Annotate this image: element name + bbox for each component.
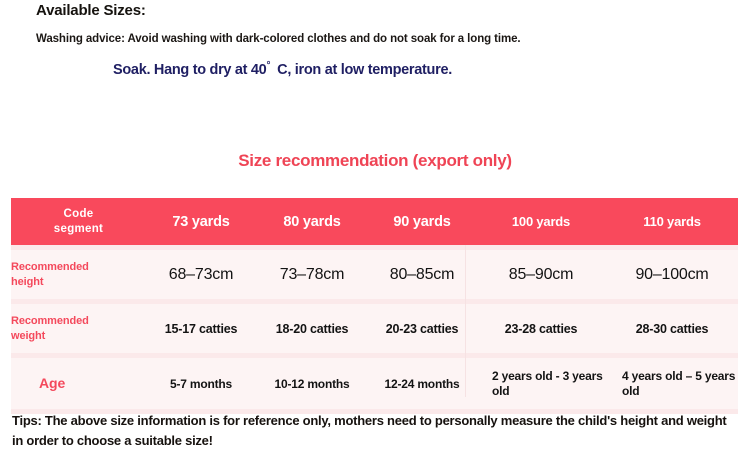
size-recommendation-table: Codesegment 73 yards 80 yards 90 yards 1… (11, 198, 738, 414)
column-header-80-yards: 80 yards (256, 198, 368, 245)
column-header-73-yards: 73 yards (146, 198, 256, 245)
cell-age-73: 5-7 months (146, 358, 256, 409)
soak-suffix: C, iron at low temperature. (277, 62, 452, 78)
cell-height-100: 85–90cm (476, 250, 606, 299)
size-chart-page: Available Sizes: Washing advice: Avoid w… (0, 0, 750, 469)
row-label-line2: height (11, 275, 146, 289)
table-row-age: Age 5-7 months 10-12 months 12-24 months… (11, 358, 738, 409)
table-row-recommended-height: Recommended height 68–73cm 73–78cm 80–85… (11, 250, 738, 299)
column-divider (465, 245, 466, 397)
column-header-90-yards: 90 yards (368, 198, 476, 245)
row-label-line1: Age (39, 374, 146, 392)
soak-instruction-text: Soak. Hang to dry at 40°C, iron at low t… (113, 60, 452, 78)
cell-age-110: 4 years old – 5 years old (606, 358, 738, 409)
row-label-line2: weight (11, 329, 146, 343)
degree-symbol: ° (266, 60, 270, 71)
cell-age-90: 12-24 months (368, 358, 476, 409)
table-row-recommended-weight: Recommended weight 15-17 catties 18-20 c… (11, 304, 738, 353)
cell-height-80: 73–78cm (256, 250, 368, 299)
cell-weight-100: 23-28 catties (476, 304, 606, 353)
cell-height-73: 68–73cm (146, 250, 256, 299)
code-segment-line1: Codesegment (11, 207, 146, 236)
column-header-100-yards: 100 yards (476, 198, 606, 245)
cell-weight-80: 18-20 catties (256, 304, 368, 353)
cell-height-90: 80–85cm (368, 250, 476, 299)
soak-prefix: Soak. Hang to dry at 40 (113, 62, 266, 78)
row-label-age: Age (11, 358, 146, 409)
cell-weight-73: 15-17 catties (146, 304, 256, 353)
column-header-110-yards: 110 yards (606, 198, 738, 245)
row-label-line1: Recommended (11, 314, 146, 328)
washing-advice-text: Washing advice: Avoid washing with dark-… (36, 33, 520, 45)
tips-text: Tips: The above size information is for … (12, 411, 727, 451)
available-sizes-heading: Available Sizes: (36, 2, 146, 19)
column-header-code-segment: Codesegment (11, 198, 146, 245)
size-recommendation-title: Size recommendation (export only) (0, 151, 750, 171)
cell-height-110: 90–100cm (606, 250, 738, 299)
row-label-line1: Recommended (11, 260, 146, 274)
cell-age-100: 2 years old - 3 years old (476, 358, 606, 409)
cell-age-80: 10-12 months (256, 358, 368, 409)
table-header-row: Codesegment 73 yards 80 yards 90 yards 1… (11, 198, 738, 245)
row-label-recommended-weight: Recommended weight (11, 304, 146, 353)
row-label-recommended-height: Recommended height (11, 250, 146, 299)
cell-weight-110: 28-30 catties (606, 304, 738, 353)
cell-weight-90: 20-23 catties (368, 304, 476, 353)
